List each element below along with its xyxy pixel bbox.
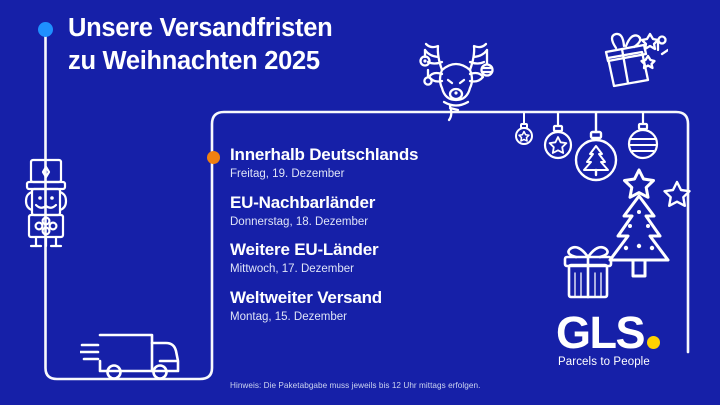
gls-logo: GLS Parcels to People [556, 312, 696, 368]
headline-bullet-icon [38, 22, 53, 37]
ornament-striped-icon [625, 112, 661, 166]
list-item: Innerhalb Deutschlands Freitag, 19. Deze… [230, 144, 530, 184]
delivery-truck-icon [80, 325, 190, 383]
list-item: Weitere EU-Länder Mittwoch, 17. Dezember [230, 239, 530, 279]
list-item: Weltweiter Versand Montag, 15. Dezember [230, 287, 530, 327]
ornament-medium-star-icon [541, 112, 575, 164]
deadline-date: Freitag, 19. Dezember [230, 166, 530, 183]
logo-wordmark: GLS [556, 312, 644, 353]
deadline-list: Innerhalb Deutschlands Freitag, 19. Deze… [230, 144, 530, 326]
deadline-title: EU-Nachbarländer [230, 192, 530, 213]
page-title: Unsere Versandfristen zu Weihnachten 202… [68, 12, 468, 78]
headline-line-1: Unsere Versandfristen [68, 12, 468, 45]
gift-box-burst-icon [600, 22, 668, 92]
deadline-title: Weitere EU-Länder [230, 239, 530, 260]
footnote-text: Hinweis: Die Paketabgabe muss jeweils bi… [230, 381, 480, 390]
deadline-date: Mittwoch, 17. Dezember [230, 261, 530, 278]
deadline-bullet-icon [207, 151, 220, 164]
logo-tagline: Parcels to People [558, 356, 696, 368]
ornament-large-tree-icon [572, 112, 620, 186]
star-icon [662, 180, 692, 210]
list-item: EU-Nachbarländer Donnerstag, 18. Dezembe… [230, 192, 530, 232]
logo-dot-icon [647, 336, 660, 349]
shipping-deadlines-infographic: Unsere Versandfristen zu Weihnachten 202… [0, 0, 720, 405]
nutcracker-icon [18, 158, 74, 250]
deadline-date: Montag, 15. Dezember [230, 309, 530, 326]
christmas-tree-icon [602, 168, 676, 283]
deadline-date: Donnerstag, 18. Dezember [230, 214, 530, 231]
gift-box-icon [561, 243, 615, 301]
deadline-title: Innerhalb Deutschlands [230, 144, 530, 165]
headline-line-2: zu Weihnachten 2025 [68, 45, 468, 78]
deadline-title: Weltweiter Versand [230, 287, 530, 308]
